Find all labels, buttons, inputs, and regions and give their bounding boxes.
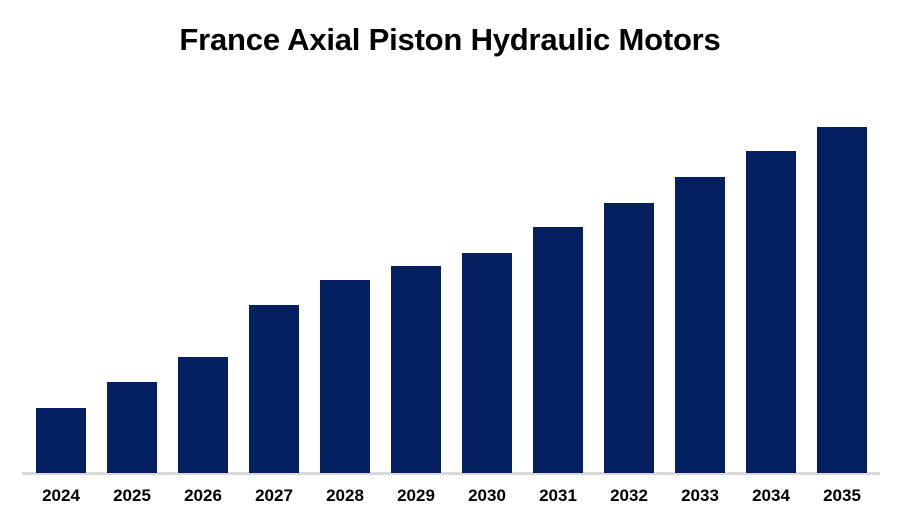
x-tick-label-2029: 2029 bbox=[380, 486, 452, 506]
bar-2034 bbox=[746, 151, 796, 473]
x-tick-label-2034: 2034 bbox=[735, 486, 807, 506]
bar-group: 2025 bbox=[107, 0, 157, 525]
x-tick-label-2024: 2024 bbox=[25, 486, 97, 506]
x-tick-label-2033: 2033 bbox=[664, 486, 736, 506]
x-tick-label-2025: 2025 bbox=[96, 486, 168, 506]
bar-2031 bbox=[533, 227, 583, 473]
x-tick-label-2027: 2027 bbox=[238, 486, 310, 506]
bar-group: 2028 bbox=[320, 0, 370, 525]
bar-2025 bbox=[107, 382, 157, 473]
bar-2027 bbox=[249, 305, 299, 473]
bar-2033 bbox=[675, 177, 725, 473]
bar-2035 bbox=[817, 127, 867, 473]
x-tick-label-2035: 2035 bbox=[806, 486, 878, 506]
bar-group: 2024 bbox=[36, 0, 86, 525]
bar-2026 bbox=[178, 357, 228, 473]
bar-2024 bbox=[36, 408, 86, 473]
bar-group: 2029 bbox=[391, 0, 441, 525]
bar-group: 2031 bbox=[533, 0, 583, 525]
x-tick-label-2026: 2026 bbox=[167, 486, 239, 506]
bar-group: 2030 bbox=[462, 0, 512, 525]
bar-group: 2033 bbox=[675, 0, 725, 525]
x-tick-label-2030: 2030 bbox=[451, 486, 523, 506]
bar-group: 2032 bbox=[604, 0, 654, 525]
plot-area: 2024 2025 2026 2027 2028 2029 2030 bbox=[0, 0, 900, 525]
bar-group: 2027 bbox=[249, 0, 299, 525]
bar-2030 bbox=[462, 253, 512, 473]
x-tick-label-2028: 2028 bbox=[309, 486, 381, 506]
bar-group: 2035 bbox=[817, 0, 867, 525]
x-tick-label-2032: 2032 bbox=[593, 486, 665, 506]
bar-2032 bbox=[604, 203, 654, 473]
bar-chart: France Axial Piston Hydraulic Motors 202… bbox=[0, 0, 900, 525]
x-tick-label-2031: 2031 bbox=[522, 486, 594, 506]
bar-group: 2026 bbox=[178, 0, 228, 525]
bar-2028 bbox=[320, 280, 370, 473]
bar-2029 bbox=[391, 266, 441, 473]
bar-group: 2034 bbox=[746, 0, 796, 525]
